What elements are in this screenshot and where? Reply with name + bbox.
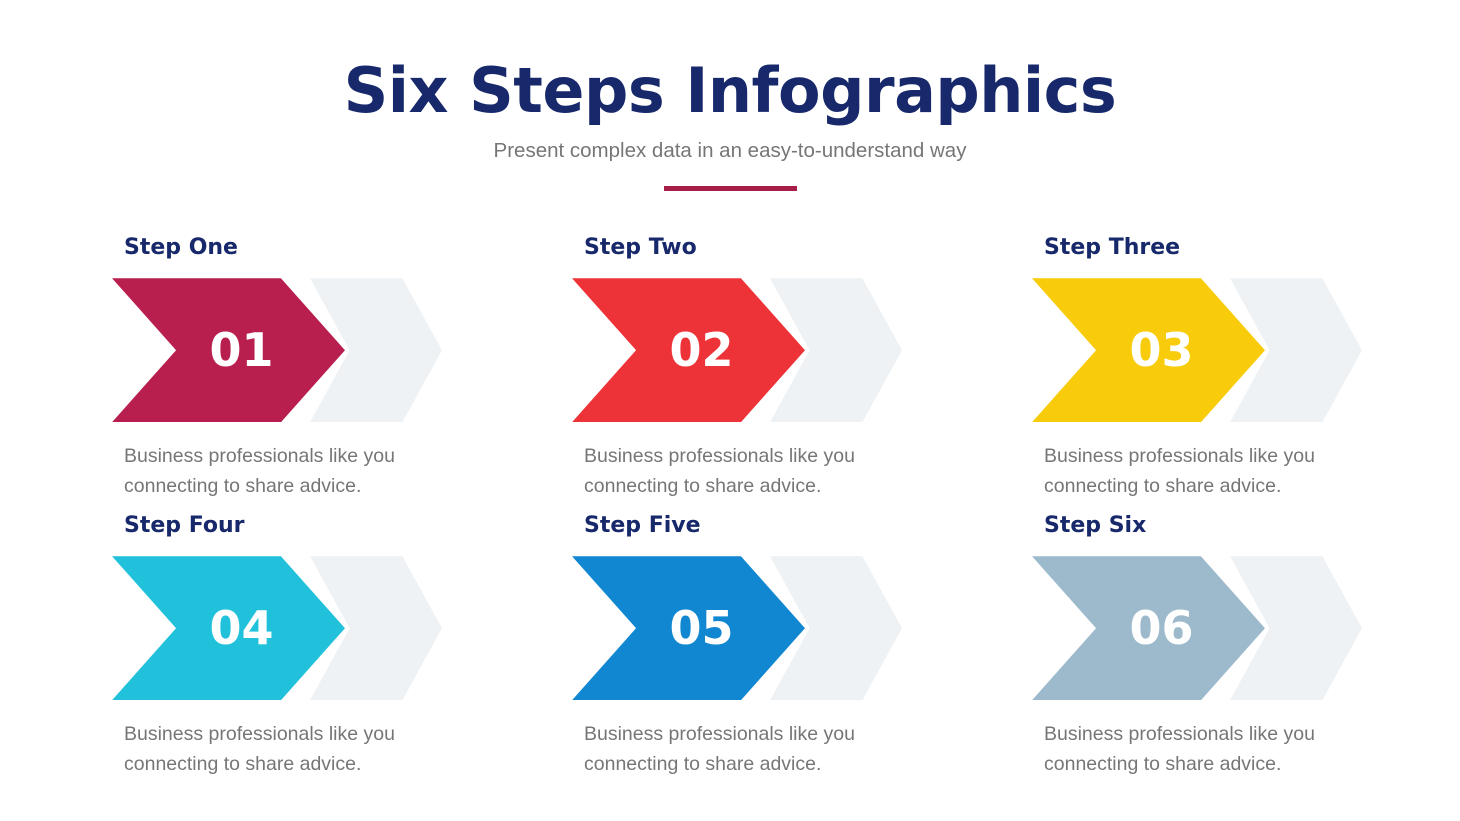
page-subtitle: Present complex data in an easy-to-under… bbox=[0, 139, 1460, 164]
step-body-4: Business professionals like you connecti… bbox=[124, 720, 454, 779]
step-heading-4: Step Four bbox=[124, 514, 572, 538]
step-heading-6: Step Six bbox=[1044, 514, 1460, 538]
chevron-group-4: 04 bbox=[112, 556, 452, 700]
title-divider bbox=[664, 186, 797, 191]
step-body-6: Business professionals like you connecti… bbox=[1044, 720, 1374, 779]
step-body-1: Business professionals like you connecti… bbox=[124, 442, 454, 501]
step-heading-5: Step Five bbox=[584, 514, 1032, 538]
slide-header: Six Steps Infographics Present complex d… bbox=[0, 58, 1460, 191]
chevron-group-6: 06 bbox=[1032, 556, 1372, 700]
step-card-6[interactable]: Step Six 06 Business professionals like … bbox=[1032, 514, 1460, 792]
step-card-2[interactable]: Step Two 02 Business professionals like … bbox=[572, 236, 1032, 514]
chevron-group-5: 05 bbox=[572, 556, 912, 700]
chevron-foreground-3[interactable]: 03 bbox=[1032, 278, 1265, 422]
chevron-group-2: 02 bbox=[572, 278, 912, 422]
step-card-5[interactable]: Step Five 05 Business professionals like… bbox=[572, 514, 1032, 792]
chevron-foreground-1[interactable]: 01 bbox=[112, 278, 345, 422]
step-body-3: Business professionals like you connecti… bbox=[1044, 442, 1374, 501]
step-body-5: Business professionals like you connecti… bbox=[584, 720, 914, 779]
step-number-5: 05 bbox=[643, 605, 733, 651]
chevron-group-1: 01 bbox=[112, 278, 452, 422]
step-number-3: 03 bbox=[1103, 327, 1193, 373]
step-number-4: 04 bbox=[183, 605, 273, 651]
step-card-4[interactable]: Step Four 04 Business professionals like… bbox=[112, 514, 572, 792]
step-number-6: 06 bbox=[1103, 605, 1193, 651]
chevron-foreground-6[interactable]: 06 bbox=[1032, 556, 1265, 700]
step-heading-2: Step Two bbox=[584, 236, 1032, 260]
step-body-2: Business professionals like you connecti… bbox=[584, 442, 914, 501]
step-heading-1: Step One bbox=[124, 236, 572, 260]
chevron-group-3: 03 bbox=[1032, 278, 1372, 422]
chevron-foreground-5[interactable]: 05 bbox=[572, 556, 805, 700]
steps-grid: Step One 01 Business professionals like … bbox=[112, 236, 1360, 792]
step-number-2: 02 bbox=[643, 327, 733, 373]
page-title: Six Steps Infographics bbox=[0, 58, 1460, 123]
step-heading-3: Step Three bbox=[1044, 236, 1460, 260]
step-card-1[interactable]: Step One 01 Business professionals like … bbox=[112, 236, 572, 514]
chevron-foreground-2[interactable]: 02 bbox=[572, 278, 805, 422]
step-number-1: 01 bbox=[183, 327, 273, 373]
infographic-slide: Six Steps Infographics Present complex d… bbox=[0, 0, 1460, 821]
chevron-foreground-4[interactable]: 04 bbox=[112, 556, 345, 700]
step-card-3[interactable]: Step Three 03 Business professionals lik… bbox=[1032, 236, 1460, 514]
